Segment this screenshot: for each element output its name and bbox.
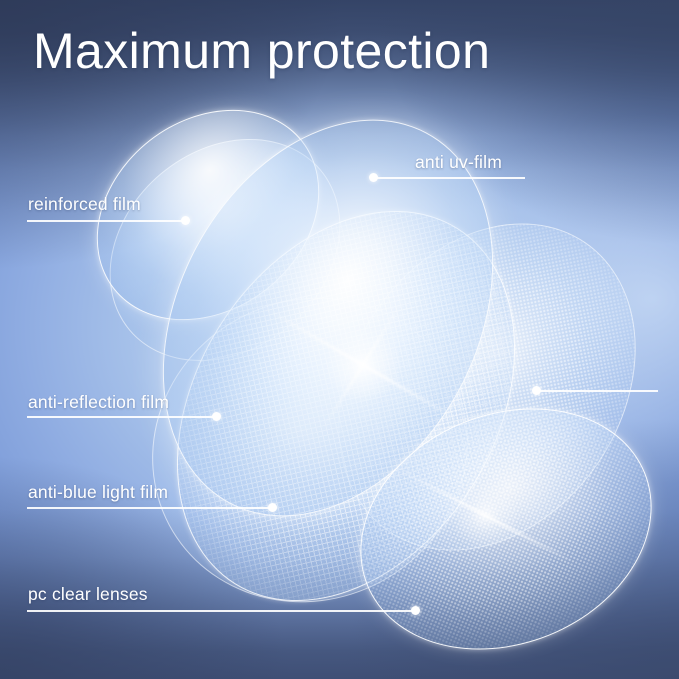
product-feature-graphic: Maximum protection reinforced film anti … — [0, 0, 679, 679]
callout-label-anti-blue-light-film: anti-blue light film — [28, 482, 168, 503]
leader-dot — [268, 503, 277, 512]
callout-label-anti-reflection-film: anti-reflection film — [28, 392, 169, 413]
leader-line — [373, 177, 525, 179]
leader-line — [536, 390, 658, 392]
leader-dot — [532, 386, 541, 395]
leader-dot — [369, 173, 378, 182]
callout-label-reinforced-film: reinforced film — [28, 194, 141, 215]
leader-line — [27, 220, 185, 222]
page-title: Maximum protection — [33, 22, 490, 80]
leader-dot — [181, 216, 190, 225]
callout-label-pc-clear-lenses: pc clear lenses — [28, 584, 148, 605]
callout-label-anti-uv-film: anti uv-film — [415, 152, 502, 173]
leader-line — [27, 507, 273, 509]
leader-dot — [411, 606, 420, 615]
leader-line — [27, 610, 416, 612]
leader-line — [27, 416, 217, 418]
leader-dot — [212, 412, 221, 421]
lens-stack — [0, 0, 679, 679]
